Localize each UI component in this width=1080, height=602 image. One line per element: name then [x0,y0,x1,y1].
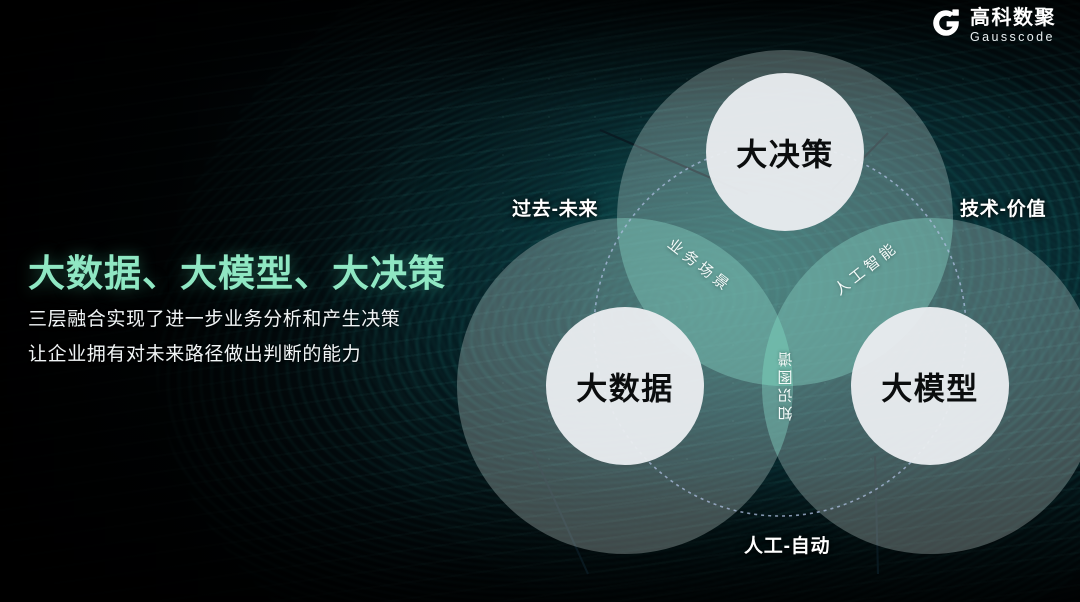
page-title: 大数据、大模型、大决策 [28,252,478,296]
core-label-bigdata: 大数据 [576,364,674,409]
core-label-decision: 大决策 [736,130,834,175]
core-label-bigmodel: 大模型 [881,364,979,409]
logo-name-cn: 高科数聚 [970,8,1056,28]
brand-logo: 高科数聚 Gausscode [931,8,1056,44]
edge-label-tech-value: 技术-价值 [960,194,1046,221]
venn-diagram [480,18,1060,578]
left-text-block: 大数据、大模型、大决策 三层融合实现了进一步业务分析和产生决策 让企业拥有对未来… [28,252,478,364]
overlap-label-knowledge: 知识图谱 [776,349,797,421]
logo-wordmark: 高科数聚 Gausscode [970,8,1056,44]
edge-label-past-future: 过去-未来 [512,194,598,221]
subtitle-line-2: 让企业拥有对未来路径做出判断的能力 [28,345,478,364]
gausscode-logo-mark-icon [931,8,961,43]
slide-root: 高科数聚 Gausscode 大数据、大模型、大决策 三层融合实现了进一步业务分… [0,0,1080,602]
subtitle-line-1: 三层融合实现了进一步业务分析和产生决策 [28,310,478,329]
edge-label-manual-auto: 人工-自动 [744,531,830,558]
logo-name-en: Gausscode [970,31,1056,44]
